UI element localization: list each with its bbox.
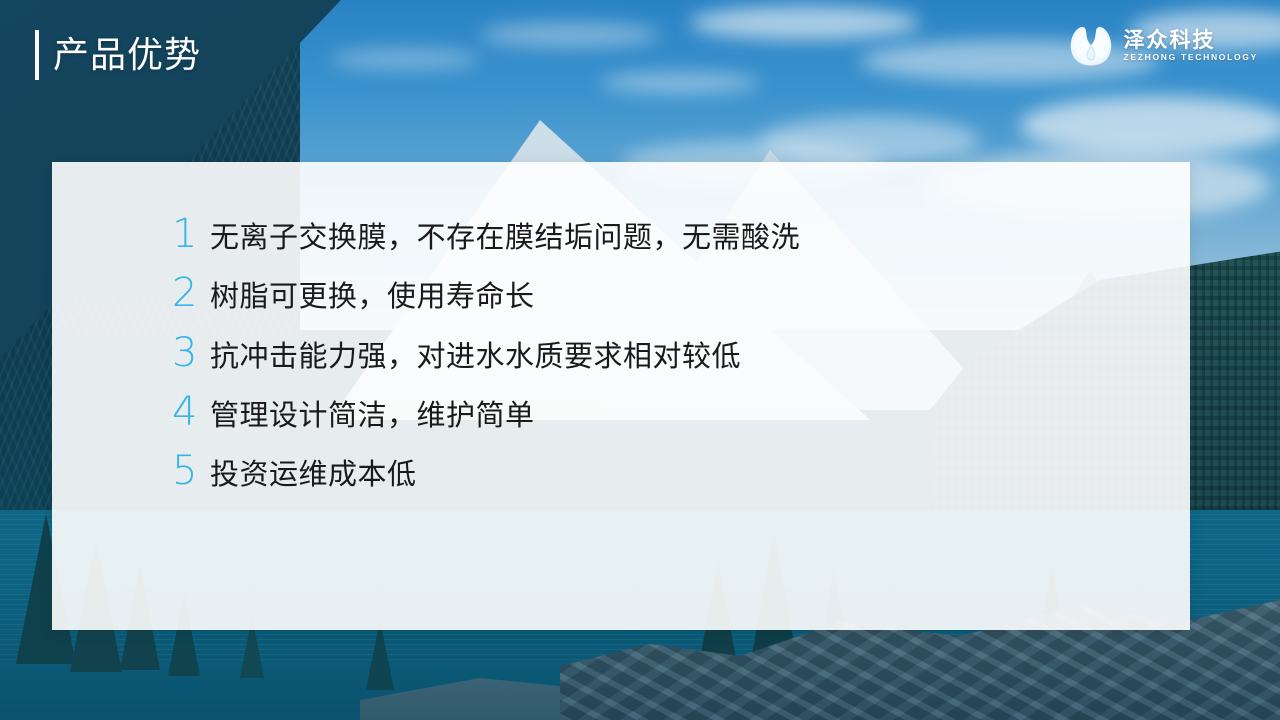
list-item-number: 1 bbox=[172, 214, 198, 254]
list-item-text: 树脂可更换，使用寿命长 bbox=[210, 279, 535, 315]
logo-name-en: ZEZHONG TECHNOLOGY bbox=[1124, 52, 1259, 64]
content-panel: 1 无离子交换膜，不存在膜结垢问题，无需酸洗 2 树脂可更换，使用寿命长 3 抗… bbox=[52, 162, 1190, 630]
advantages-list: 1 无离子交换膜，不存在膜结垢问题，无需酸洗 2 树脂可更换，使用寿命长 3 抗… bbox=[172, 214, 1150, 493]
presentation-slide: 产品优势 泽众科技 ZEZHONG TECHNOLOGY 1 无离 bbox=[0, 0, 1280, 720]
list-item: 4 管理设计简洁，维护简单 bbox=[172, 392, 1150, 434]
title-accent-bar bbox=[35, 30, 39, 80]
logo-name-cn: 泽众科技 bbox=[1124, 29, 1259, 52]
list-item-number: 3 bbox=[172, 333, 198, 373]
list-item-number: 2 bbox=[172, 273, 198, 313]
list-item-text: 投资运维成本低 bbox=[210, 457, 417, 493]
list-item-text: 管理设计简洁，维护简单 bbox=[210, 398, 535, 434]
list-item-number: 5 bbox=[172, 451, 198, 491]
list-item: 2 树脂可更换，使用寿命长 bbox=[172, 273, 1150, 315]
logo-text-group: 泽众科技 ZEZHONG TECHNOLOGY bbox=[1124, 29, 1259, 64]
list-item: 1 无离子交换膜，不存在膜结垢问题，无需酸洗 bbox=[172, 214, 1150, 256]
list-item-text: 抗冲击能力强，对进水水质要求相对较低 bbox=[210, 339, 741, 375]
slide-title-group: 产品优势 bbox=[35, 30, 201, 80]
list-item-text: 无离子交换膜，不存在膜结垢问题，无需酸洗 bbox=[210, 220, 800, 256]
list-item: 5 投资运维成本低 bbox=[172, 451, 1150, 493]
list-item-number: 4 bbox=[172, 392, 198, 432]
lotus-droplet-logo-icon bbox=[1067, 22, 1115, 70]
page-title: 产品优势 bbox=[53, 37, 201, 73]
company-logo: 泽众科技 ZEZHONG TECHNOLOGY bbox=[1067, 22, 1259, 70]
list-item: 3 抗冲击能力强，对进水水质要求相对较低 bbox=[172, 333, 1150, 375]
